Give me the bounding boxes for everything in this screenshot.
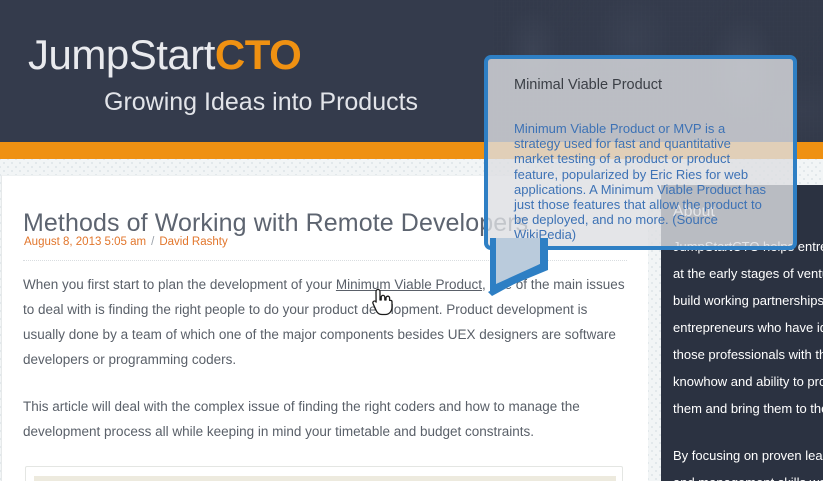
article-author[interactable]: David Rashty <box>159 236 227 248</box>
page-title: Methods of Working with Remote Developer… <box>23 209 528 238</box>
article-paragraph-2: This article will deal with the complex … <box>23 394 627 444</box>
article-body: When you first start to plan the develop… <box>23 272 627 466</box>
article-paragraph-1: When you first start to plan the develop… <box>23 272 627 372</box>
tooltip-title: Minimal Viable Product <box>514 77 662 93</box>
sidebar-paragraph-2: By focusing on proven leadership and man… <box>673 442 823 481</box>
meta-divider <box>23 260 627 261</box>
sidebar-paragraph-1: JumpStartCTO helps entrepreneurs at the … <box>673 233 823 422</box>
sidebar-body: JumpStartCTO helps entrepreneurs at the … <box>673 233 823 481</box>
post-footer-box <box>25 466 623 481</box>
site-logo[interactable]: JumpStartCTO Growing Ideas into Products <box>28 34 418 115</box>
tooltip-body: Minimum Viable Product or MVP is a strat… <box>514 121 766 243</box>
meta-separator: / <box>151 236 154 248</box>
minimum-viable-product-link[interactable]: Minimum Viable Product <box>336 277 482 292</box>
paragraph-1-lead-text: When you first start to plan the develop… <box>23 277 336 292</box>
article-meta: August 8, 2013 5:05 am/David Rashty <box>24 236 228 248</box>
logo-accent-text: CTO <box>215 31 301 78</box>
browser-page: JumpStartCTO Growing Ideas into Products… <box>0 0 823 481</box>
article-date: August 8, 2013 5:05 am <box>24 236 146 248</box>
site-tagline: Growing Ideas into Products <box>104 90 418 115</box>
logo-wordmark: JumpStartCTO <box>28 34 418 76</box>
logo-primary-text: JumpStart <box>28 31 215 78</box>
glossary-tooltip: Minimal Viable Product Minimum Viable Pr… <box>484 55 797 250</box>
post-footer-strip <box>34 476 616 481</box>
